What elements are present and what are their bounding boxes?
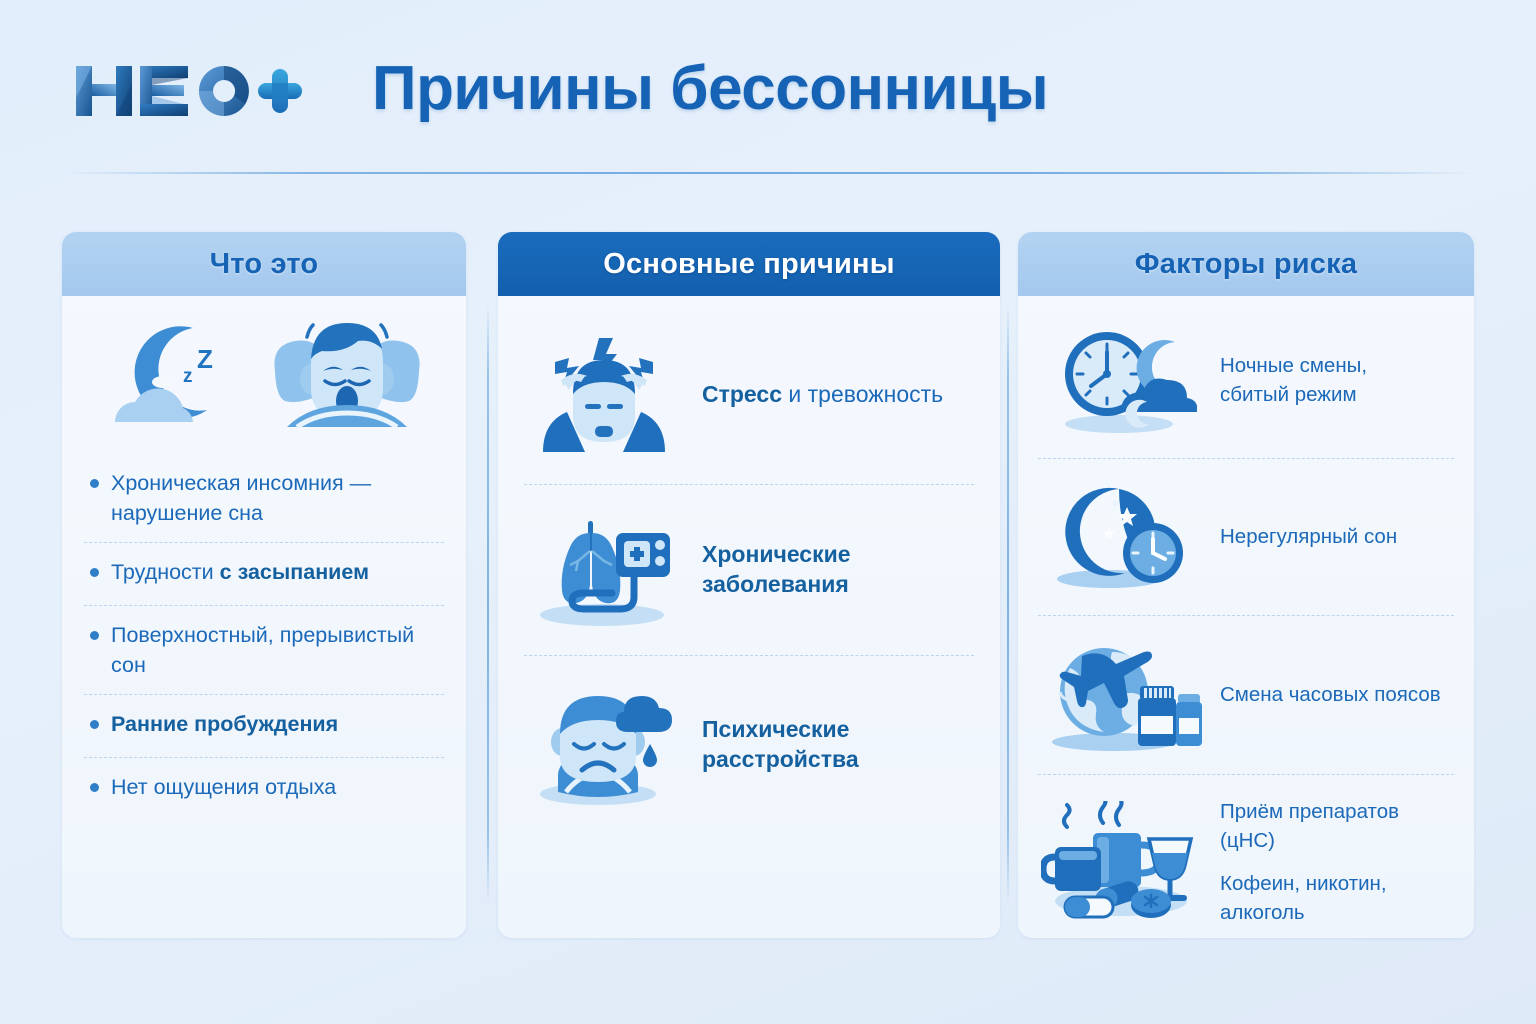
- list-item: Ранние пробуждения: [84, 694, 444, 757]
- bullet-text: Поверхностный, прерывистый сон: [111, 620, 444, 680]
- bullet-text: Ранние пробуждения: [111, 709, 338, 739]
- list-item: Нет ощущения отдыха: [84, 757, 444, 820]
- bullet-dot-icon: [90, 479, 99, 488]
- card-body-what-it-is: Z z: [62, 296, 466, 820]
- clock-moon-icon: [1038, 324, 1206, 436]
- cause-list: Стресс и тревожность: [498, 296, 1000, 834]
- list-item: Поверхностный, прерывистый сон: [84, 605, 444, 694]
- page-title: Причины бессонницы: [372, 53, 1048, 124]
- bullet-list: Хроническая инсомния — нарушение сна Тру…: [62, 446, 466, 820]
- card-main-causes: Основные причины: [498, 232, 1000, 938]
- coffee-wine-pills-icon: [1038, 801, 1206, 923]
- card-risk-factors: Факторы риска: [1018, 232, 1474, 938]
- moon-stars-clock-icon: [1038, 481, 1206, 593]
- infographic-page: Причины бессонницы Что это Z z: [0, 0, 1536, 1024]
- column-divider-1: [487, 304, 489, 904]
- risk-label: Приём препаратов (цНС) Кофеин, никотин, …: [1220, 797, 1454, 927]
- bullet-text: Трудности с засыпанием: [111, 557, 369, 587]
- columns-container: Что это Z z: [0, 232, 1536, 938]
- hero-icons-what-it-is: Z z: [62, 296, 466, 446]
- risk-label: Смена часовых поясов: [1220, 680, 1441, 709]
- card-body-risk-factors: Ночные смены, сбитый режим: [1018, 296, 1474, 938]
- card-header-main-causes: Основные причины: [498, 232, 1000, 296]
- list-item: Хроническая инсомния — нарушение сна: [84, 454, 444, 542]
- globe-plane-pills-icon: [1038, 638, 1206, 752]
- page-header: Причины бессонницы: [0, 0, 1536, 172]
- cause-label: Стресс и тревожность: [702, 380, 943, 410]
- yawning-person-icon: [267, 309, 427, 441]
- risk-list: Ночные смены, сбитый режим: [1018, 296, 1474, 938]
- card-header-what-it-is: Что это: [62, 232, 466, 296]
- column-divider-2: [1007, 304, 1009, 904]
- card-header-risk-factors: Факторы риска: [1018, 232, 1474, 296]
- stressed-head-icon: [524, 332, 684, 458]
- list-item: Смена часовых поясов: [1038, 615, 1454, 774]
- bullet-dot-icon: [90, 568, 99, 577]
- list-item: Приём препаратов (цНС) Кофеин, никотин, …: [1038, 774, 1454, 938]
- lungs-monitor-icon: [524, 511, 684, 629]
- bullet-dot-icon: [90, 631, 99, 640]
- svg-text:z: z: [183, 366, 193, 387]
- neo-plus-logo-mark: [72, 58, 302, 124]
- sad-rain-cloud-icon: [524, 682, 684, 808]
- list-item: Трудности с засыпанием: [84, 542, 444, 605]
- bullet-text: Хроническая инсомния — нарушение сна: [111, 468, 444, 528]
- bullet-dot-icon: [90, 720, 99, 729]
- neo-plus-logo: [72, 58, 302, 124]
- sleeping-moon-icon: Z z: [101, 310, 251, 440]
- cause-label: Психические расстройства: [702, 715, 974, 775]
- bullet-text: Нет ощущения отдыха: [111, 772, 336, 802]
- risk-label: Ночные смены, сбитый режим: [1220, 351, 1367, 409]
- list-item: Психические расстройства: [524, 655, 974, 834]
- svg-text:Z: Z: [197, 344, 213, 374]
- list-item: Хронические заболевания: [524, 484, 974, 655]
- bullet-dot-icon: [90, 783, 99, 792]
- list-item: Стресс и тревожность: [524, 306, 974, 484]
- risk-label: Нерегулярный сон: [1220, 522, 1397, 551]
- card-body-main-causes: Стресс и тревожность: [498, 296, 1000, 834]
- header-divider: [62, 172, 1474, 174]
- card-what-it-is: Что это Z z: [62, 232, 466, 938]
- cause-label: Хронические заболевания: [702, 540, 974, 600]
- list-item: Нерегулярный сон: [1038, 458, 1454, 615]
- list-item: Ночные смены, сбитый режим: [1038, 302, 1454, 458]
